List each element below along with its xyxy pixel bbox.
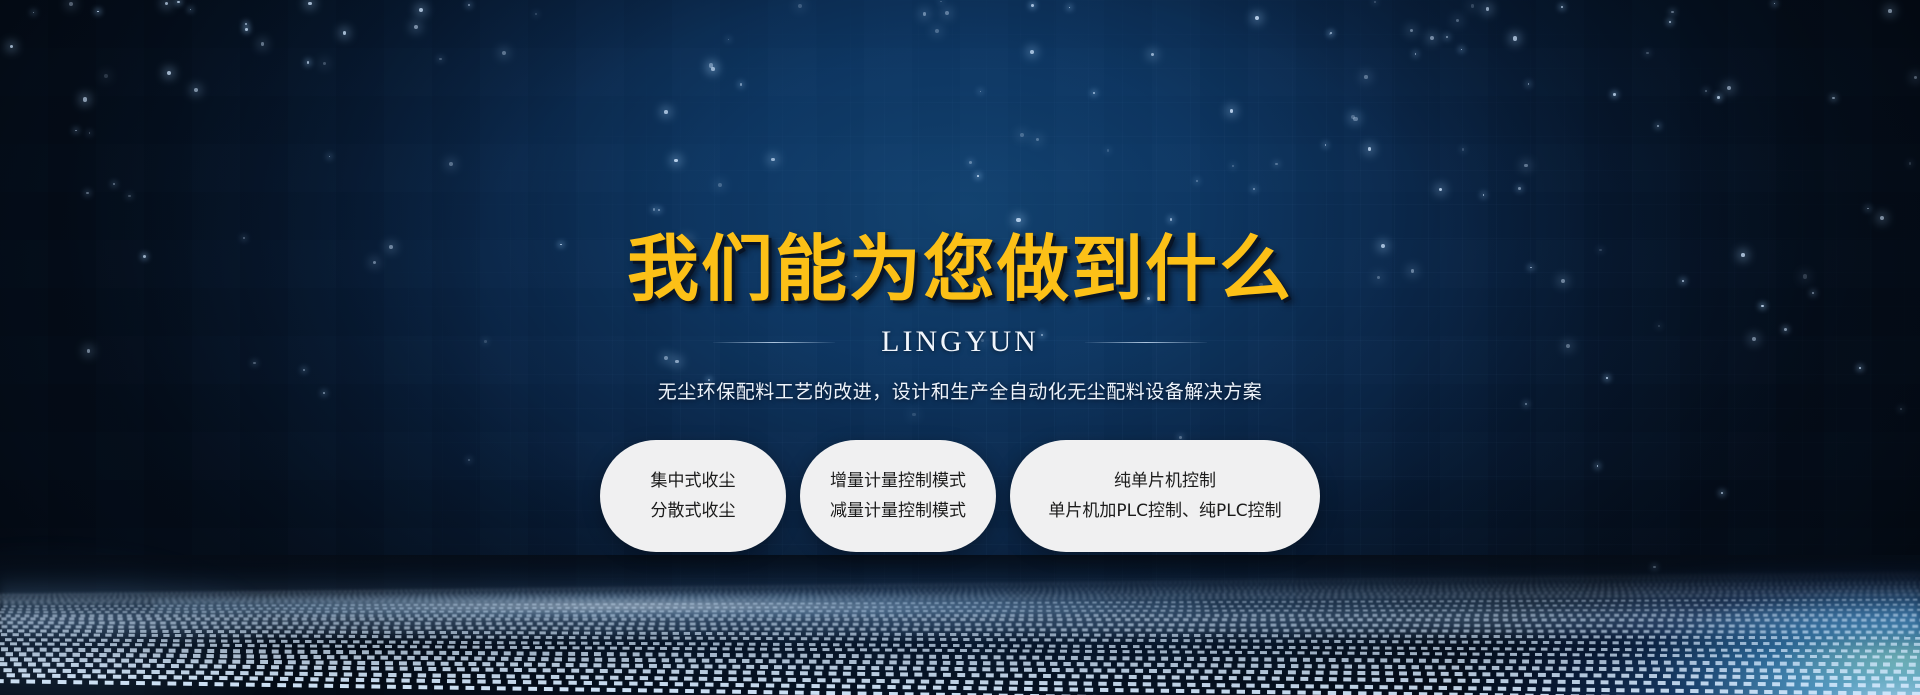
wave-top-fade — [0, 555, 1920, 595]
wave-highlight — [154, 593, 1210, 619]
card-line: 分散式收尘 — [651, 503, 736, 520]
card-line: 减量计量控制模式 — [830, 503, 966, 520]
page-title: 我们能为您做到什么 — [0, 233, 1920, 305]
feature-card-controller-type[interactable]: 纯单片机控制 单片机加PLC控制、纯PLC控制 — [1010, 440, 1320, 552]
hero-banner: 我们能为您做到什么 LINGYUN 无尘环保配料工艺的改进，设计和生产全自动化无… — [0, 0, 1920, 695]
feature-card-dust-collection[interactable]: 集中式收尘 分散式收尘 — [600, 440, 786, 552]
feature-card-list: 集中式收尘 分散式收尘 增量计量控制模式 减量计量控制模式 纯单片机控制 单片机… — [0, 440, 1920, 552]
brand-name: LINGYUN — [881, 325, 1039, 359]
divider-line-right — [1085, 342, 1207, 343]
feature-card-metering-control-mode[interactable]: 增量计量控制模式 减量计量控制模式 — [800, 440, 996, 552]
divider-line-left — [713, 342, 835, 343]
subtitle-row: LINGYUN — [0, 325, 1920, 359]
card-line: 增量计量控制模式 — [830, 473, 966, 490]
banner-description: 无尘环保配料工艺的改进，设计和生产全自动化无尘配料设备解决方案 — [0, 377, 1920, 404]
digital-wave-field — [0, 555, 1920, 695]
card-line: 单片机加PLC控制、纯PLC控制 — [1048, 503, 1281, 520]
card-line: 纯单片机控制 — [1114, 473, 1216, 490]
card-line: 集中式收尘 — [651, 473, 736, 490]
